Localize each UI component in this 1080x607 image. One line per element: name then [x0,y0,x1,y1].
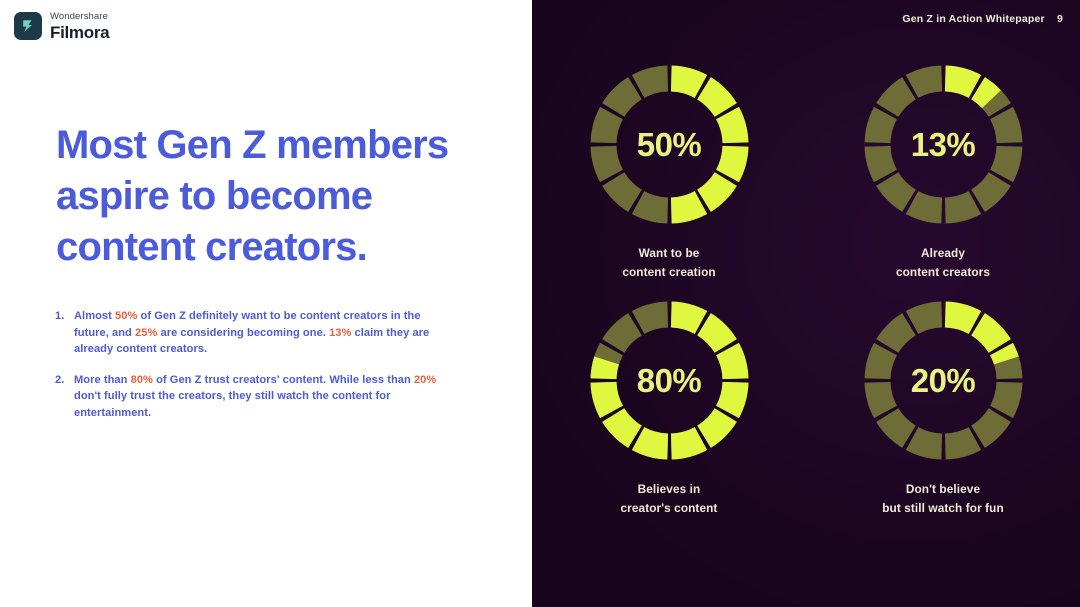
donut-caption-line-1: Believes in [621,480,718,499]
stat-highlight: 80% [131,374,153,386]
right-visual-panel: Gen Z in Action Whitepaper 9 50%Want to … [532,0,1080,607]
slide-canvas: Wondershare Filmora Most Gen Z members a… [0,0,1080,607]
donut-caption: Want to becontent creation [622,244,715,282]
list-item-text: of Gen Z trust creators' content. While … [153,374,414,386]
donut-caption: Believes increator's content [621,480,718,518]
donut-caption-line-1: Don't believe [882,480,1004,499]
donut-caption-line-2: creator's content [621,499,718,518]
donut-value-label: 50% [587,62,752,227]
filmora-play-icon [14,12,42,40]
donut-chart: 80% [587,298,752,463]
donut-value-label: 80% [587,298,752,463]
stat-highlight: 50% [115,310,137,322]
donut-stat-believes-in-creators-content: 80%Believes increator's content [532,298,806,534]
donut-chart: 13% [861,62,1026,227]
stat-highlight: 20% [414,374,436,386]
list-item-text: don't fully trust the creators, they sti… [74,390,391,419]
donut-stat-want-to-be-content-creation: 50%Want to becontent creation [532,62,806,298]
brand-company: Wondershare [50,12,109,22]
document-title: Gen Z in Action Whitepaper [902,13,1044,25]
list-item: 1.Almost 50% of Gen Z definitely want to… [55,308,440,358]
stat-highlight: 25% [135,327,157,339]
brand-product: Filmora [50,24,109,41]
page-title: Most Gen Z members aspire to become cont… [56,120,506,274]
donut-value-label: 20% [861,298,1026,463]
donut-caption: Alreadycontent creators [896,244,990,282]
donut-stat-already-content-creators: 13%Alreadycontent creators [806,62,1080,298]
donut-caption-line-2: content creators [896,263,990,282]
donut-caption-line-2: but still watch for fun [882,499,1004,518]
donut-caption-line-1: Already [896,244,990,263]
list-item-text: are considering becoming one. [157,327,329,339]
donut-value-label: 13% [861,62,1026,227]
donut-stat-dont-believe-but-still-watch: 20%Don't believebut still watch for fun [806,298,1080,534]
donut-caption-line-1: Want to be [622,244,715,263]
list-item-text: More than [74,374,131,386]
list-item: 2.More than 80% of Gen Z trust creators'… [55,372,440,422]
donut-caption-line-2: content creation [622,263,715,282]
donut-chart: 50% [587,62,752,227]
key-findings-list: 1.Almost 50% of Gen Z definitely want to… [55,308,440,435]
list-item-number: 1. [55,308,64,325]
list-item-text: Almost [74,310,115,322]
list-item-number: 2. [55,372,64,389]
document-header: Gen Z in Action Whitepaper 9 [902,13,1063,25]
left-content-panel: Wondershare Filmora Most Gen Z members a… [0,0,532,607]
stat-highlight: 13% [329,327,351,339]
donut-chart: 20% [861,298,1026,463]
donut-chart-grid: 50%Want to becontent creation13%Alreadyc… [532,62,1080,534]
page-number: 9 [1057,13,1063,25]
brand-logo[interactable]: Wondershare Filmora [14,12,109,41]
donut-caption: Don't believebut still watch for fun [882,480,1004,518]
